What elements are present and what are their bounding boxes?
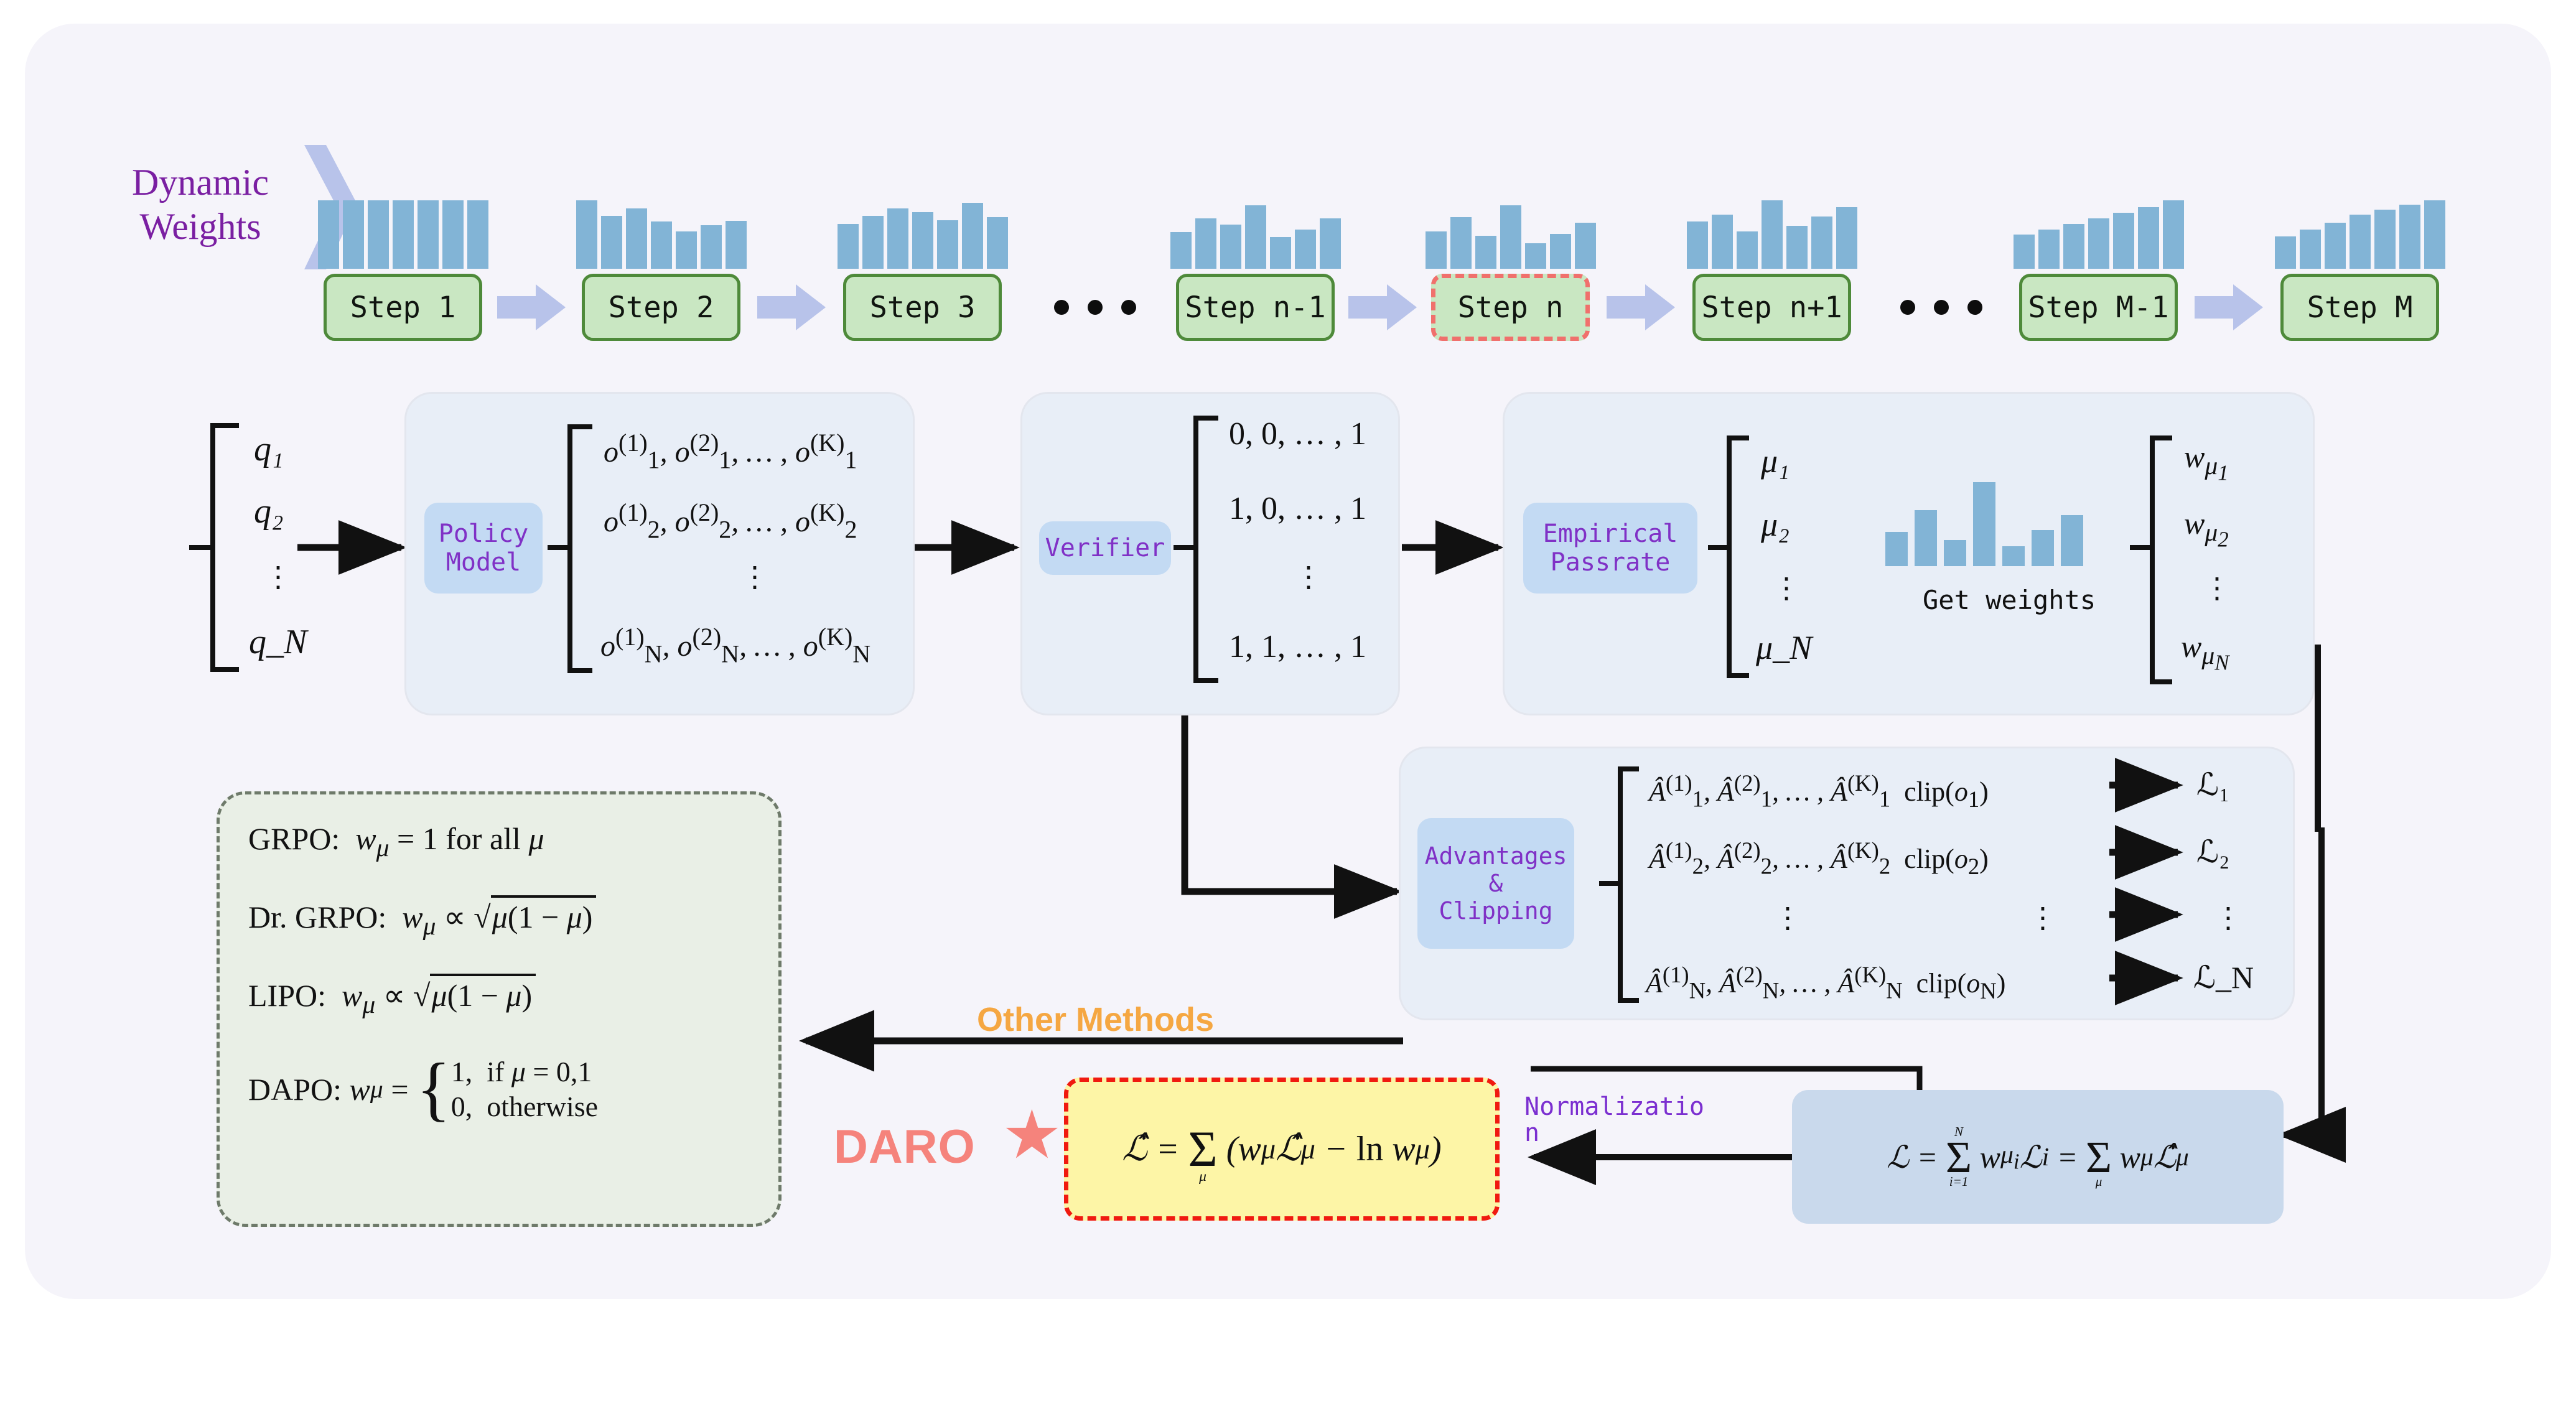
weights-bracket-tick xyxy=(2130,545,2151,550)
bar xyxy=(2374,210,2396,269)
outputs-bracket-tick xyxy=(548,545,569,550)
step-label: Step M-1 xyxy=(2028,291,2168,325)
query-row-n: q_N xyxy=(249,622,307,662)
bar xyxy=(2275,236,2296,269)
reward-row-1: 0, 0, … , 1 xyxy=(1229,416,1366,452)
bar xyxy=(1575,223,1596,269)
advantages-line2: & xyxy=(1489,870,1503,897)
bar xyxy=(2399,205,2420,269)
other-methods-title: Other Methods xyxy=(977,1000,1214,1039)
normalization-label: Normalizatio n xyxy=(1524,1094,1708,1146)
bar xyxy=(2063,224,2084,269)
bar xyxy=(701,225,722,269)
weight-row-1: wμ1 xyxy=(2184,439,2229,485)
bar xyxy=(1195,218,1216,269)
daro-label: DARO xyxy=(834,1120,976,1174)
step-box-step-2[interactable]: Step 2 xyxy=(582,274,740,341)
step-box-step-n-1[interactable]: Step n+1 xyxy=(1692,274,1851,341)
other-method-grpo-name: GRPO: xyxy=(248,821,340,856)
daro-objective-box: ℒ̂ = Σμ (wμℒ̂μ − ln wμ) xyxy=(1064,1078,1500,1221)
bar xyxy=(1811,217,1832,269)
step-label: Step n-1 xyxy=(1185,291,1325,325)
reward-row-n: 1, 1, … , 1 xyxy=(1229,628,1366,665)
weight-bar xyxy=(1973,482,1995,566)
daro-objective-formula: ℒ̂ = Σμ (wμℒ̂μ − ln wμ) xyxy=(1122,1114,1441,1185)
bar xyxy=(676,231,697,269)
weight-row-ellipsis: ⋮ xyxy=(2203,571,2231,605)
bar xyxy=(442,200,464,269)
loss-row-1: ℒ₁ xyxy=(2196,766,2229,803)
bar xyxy=(1712,215,1733,269)
get-weights-caption: Get weights xyxy=(1923,585,2096,615)
query-row-ellipsis: ⋮ xyxy=(264,560,292,594)
bar xyxy=(1245,205,1266,269)
other-method-drgrpo: Dr. GRPO: wμ ∝ √μ(1 − μ) xyxy=(248,895,750,941)
bar xyxy=(2325,223,2346,269)
outputs-bracket xyxy=(567,424,592,673)
policy-model-chip[interactable]: Policy Model xyxy=(424,503,543,594)
step-arrow-icon xyxy=(497,282,546,326)
normalization-line1: Normalizatio xyxy=(1524,1094,1708,1120)
bar xyxy=(467,200,488,269)
bar xyxy=(368,200,389,269)
step-ellipsis xyxy=(1054,300,1136,315)
empirical-passrate-line1: Empirical xyxy=(1543,519,1678,548)
bar xyxy=(393,200,414,269)
total-loss-box: ℒ = NΣi=1 wμiℒi = Σμ wμℒ̂μ xyxy=(1792,1090,2284,1224)
outputs-row-n: o(1)N, o(2)N, … , o(K)N xyxy=(600,622,870,669)
mu-row-n: μ_N xyxy=(1756,628,1812,667)
step-arrow-icon xyxy=(757,282,806,326)
step-bars-6 xyxy=(1687,197,1857,269)
query-row-2: q₂ xyxy=(254,491,283,531)
weight-row-2: wμ2 xyxy=(2184,505,2229,552)
bar xyxy=(2113,213,2134,269)
other-method-dapo-name: DAPO: xyxy=(248,1071,342,1107)
dynamic-weights-label: Dynamic Weights xyxy=(107,161,294,249)
bar xyxy=(937,220,958,269)
daro-star-icon: ★ xyxy=(1002,1102,1062,1170)
bar xyxy=(1525,243,1546,269)
bar xyxy=(1475,236,1496,269)
bar xyxy=(1836,207,1857,269)
step-arrow-icon xyxy=(1607,282,1655,326)
queries-bracket-tick xyxy=(189,545,210,550)
step-bars-5 xyxy=(1426,197,1596,269)
bar xyxy=(418,200,439,269)
verifier-chip[interactable]: Verifier xyxy=(1039,521,1171,575)
weight-bar xyxy=(2032,530,2054,566)
bar xyxy=(2038,230,2060,269)
step-bars-2 xyxy=(576,197,747,269)
mu-row-2: μ₂ xyxy=(1761,505,1790,544)
advantage-row-ellipsis-clip: ⋮ xyxy=(2028,901,2057,934)
advantages-line3: Clipping xyxy=(1439,897,1552,924)
bar xyxy=(838,224,859,269)
bar xyxy=(2424,200,2445,269)
policy-model-line1: Policy xyxy=(439,519,529,548)
step-label: Step n+1 xyxy=(1701,291,1842,325)
bar xyxy=(962,203,983,269)
advantages-chip[interactable]: Advantages & Clipping xyxy=(1417,818,1574,949)
advantage-row-1: Â(1)1, Â(2)1, … , Â(K)1 clip(o1) xyxy=(1649,770,1989,812)
bar xyxy=(1295,230,1316,269)
bar xyxy=(2088,218,2109,269)
step-arrow-icon xyxy=(2195,282,2243,326)
bar xyxy=(887,208,908,269)
step-label: Step 3 xyxy=(870,291,976,325)
advantages-bracket-tick xyxy=(1599,881,1620,886)
bar xyxy=(626,208,647,269)
bar xyxy=(1737,231,1758,269)
other-method-dapo: DAPO: wμ = { 1, if μ = 0,1 0, otherwise xyxy=(248,1055,750,1124)
other-method-grpo: GRPO: wμ = 1 for all μ xyxy=(248,821,750,863)
step-bars-8 xyxy=(2275,197,2445,269)
step-box-step-1[interactable]: Step 1 xyxy=(324,274,482,341)
step-bars-7 xyxy=(2014,197,2184,269)
bar xyxy=(2350,215,2371,269)
weight-bar xyxy=(1885,532,1908,566)
bar xyxy=(2300,230,2321,269)
bar xyxy=(1220,225,1241,269)
step-bars-3 xyxy=(838,197,1008,269)
mu-row-1: μ₁ xyxy=(1761,442,1790,480)
bar xyxy=(1550,234,1571,269)
step-box-step-3[interactable]: Step 3 xyxy=(843,274,1002,341)
bar xyxy=(862,216,884,269)
reward-row-2: 1, 0, … , 1 xyxy=(1229,490,1366,527)
mu-bracket xyxy=(1727,435,1749,678)
bar xyxy=(1500,205,1521,269)
dapo-case-1: 1, if μ = 0,1 xyxy=(451,1055,598,1089)
other-method-lipo-name: LIPO: xyxy=(248,978,326,1013)
dapo-case-2: 0, otherwise xyxy=(451,1089,598,1124)
empirical-passrate-chip[interactable]: Empirical Passrate xyxy=(1523,503,1697,594)
bar xyxy=(576,200,597,269)
rewards-bracket-tick xyxy=(1174,545,1195,550)
dynamic-weights-line2: Weights xyxy=(107,205,294,249)
step-box-step-m-1[interactable]: Step M-1 xyxy=(2019,274,2178,341)
queries-bracket xyxy=(210,423,239,672)
normalization-line2: n xyxy=(1524,1120,1708,1146)
mu-bracket-tick xyxy=(1708,545,1729,550)
bar xyxy=(1762,200,1783,269)
step-label: Step 1 xyxy=(350,291,456,325)
bar xyxy=(343,200,364,269)
bar xyxy=(912,212,933,269)
step-box-step-m[interactable]: Step M xyxy=(2280,274,2439,341)
bar xyxy=(1426,231,1447,269)
weights-bracket xyxy=(2150,435,2172,684)
weight-bar xyxy=(1944,540,1966,566)
other-method-lipo: LIPO: wμ ∝ √μ(1 − μ) xyxy=(248,974,750,1020)
mu-row-ellipsis: ⋮ xyxy=(1772,571,1801,605)
get-weights-bars xyxy=(1885,482,2083,566)
step-box-step-n[interactable]: Step n xyxy=(1431,274,1590,341)
step-arrow-icon xyxy=(1348,282,1397,326)
bar xyxy=(1320,218,1341,269)
reward-row-ellipsis: ⋮ xyxy=(1294,560,1323,594)
advantage-row-2: Â(1)2, Â(2)2, … , Â(K)2 clip(o2) xyxy=(1649,837,1989,879)
bar xyxy=(2163,200,2184,269)
bar xyxy=(318,200,339,269)
weight-bar xyxy=(1915,510,1937,566)
weight-bar xyxy=(2002,546,2025,566)
bar xyxy=(601,216,622,269)
outputs-row-1: o(1)1, o(2)1, … , o(K)1 xyxy=(604,428,857,475)
verifier-label: Verifier xyxy=(1045,534,1165,562)
advantage-row-n: Â(1)N, Â(2)N, … , Â(K)N clip(oN) xyxy=(1646,961,2005,1004)
step-label: Step M xyxy=(2307,291,2413,325)
loss-row-n: ℒ_N xyxy=(2193,959,2254,995)
bar xyxy=(726,221,747,269)
bar xyxy=(1450,217,1472,269)
other-method-drgrpo-name: Dr. GRPO: xyxy=(248,900,386,934)
advantages-bracket xyxy=(1618,766,1639,1003)
loss-row-ellipsis: ⋮ xyxy=(2214,901,2242,934)
rewards-bracket xyxy=(1193,416,1218,683)
other-methods-box: GRPO: wμ = 1 for all μ Dr. GRPO: wμ ∝ √μ… xyxy=(217,791,782,1227)
step-label: Step n xyxy=(1458,291,1564,325)
step-label: Step 2 xyxy=(609,291,714,325)
bar xyxy=(2138,207,2159,269)
bar xyxy=(1687,221,1708,269)
advantage-row-ellipsis-adv: ⋮ xyxy=(1773,901,1802,934)
loss-row-2: ℒ₂ xyxy=(2196,834,2229,870)
outputs-row-2: o(1)2, o(2)2, … , o(K)2 xyxy=(604,498,857,544)
weight-row-n: wμN xyxy=(2181,628,2229,675)
bar xyxy=(1786,226,1808,269)
bar xyxy=(2014,235,2035,269)
advantages-line1: Advantages xyxy=(1425,842,1567,870)
bar xyxy=(651,221,672,269)
step-bars-4 xyxy=(1170,197,1341,269)
bar xyxy=(1270,237,1291,269)
step-ellipsis xyxy=(1900,300,1982,315)
query-row-1: q₁ xyxy=(254,429,283,469)
bar xyxy=(1170,232,1192,269)
step-box-step-n-1[interactable]: Step n-1 xyxy=(1176,274,1335,341)
weight-bar xyxy=(2061,515,2083,566)
empirical-passrate-line2: Passrate xyxy=(1551,548,1671,577)
total-loss-formula: ℒ = NΣi=1 wμiℒi = Σμ wμℒ̂μ xyxy=(1887,1125,2189,1188)
dynamic-weights-line1: Dynamic xyxy=(107,161,294,205)
policy-model-line2: Model xyxy=(446,548,521,577)
outputs-row-ellipsis: ⋮ xyxy=(740,560,769,594)
step-bars-1 xyxy=(318,197,488,269)
bar xyxy=(987,217,1008,269)
